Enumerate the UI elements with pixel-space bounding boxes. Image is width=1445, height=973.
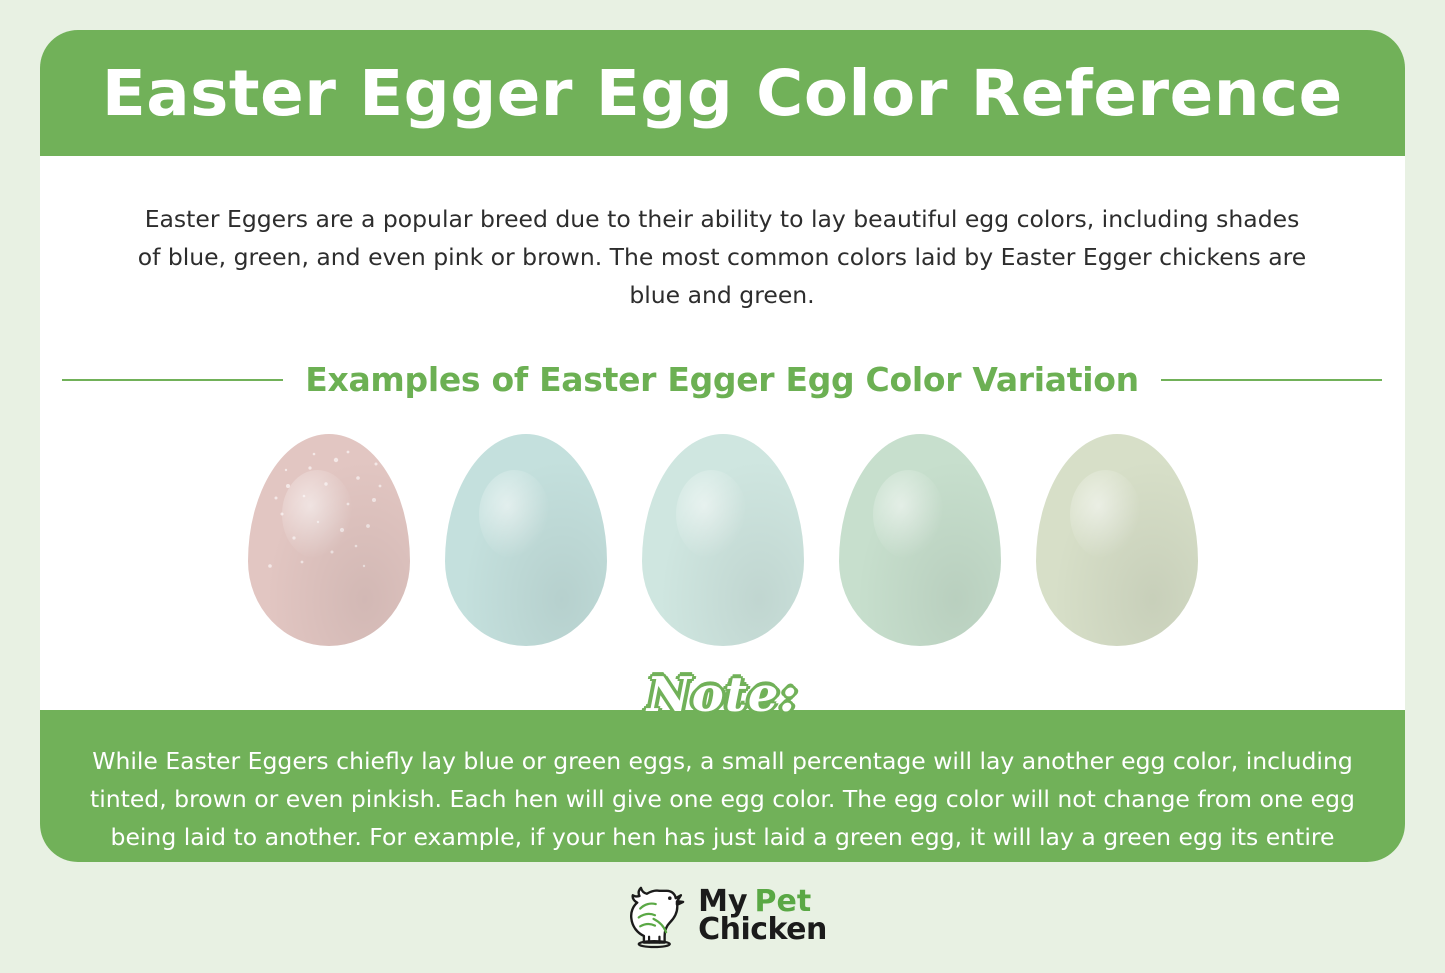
egg-speckles (248, 434, 410, 646)
section-heading-label: Examples of Easter Egger Egg Color Varia… (305, 360, 1139, 399)
note-body: While Easter Eggers chiefly lay blue or … (90, 742, 1355, 862)
egg-shadow (1036, 434, 1198, 646)
egg-swatch-2 (445, 434, 607, 646)
page-title: Easter Egger Egg Color Reference (102, 62, 1343, 125)
egg-shadow (248, 434, 410, 646)
egg-swatch-4 (839, 434, 1001, 646)
section-heading: Examples of Easter Egger Egg Color Varia… (62, 360, 1382, 399)
egg-highlight (873, 470, 944, 559)
logo-wordmark: My Pet Chicken (698, 888, 827, 943)
logo-word-chicken: Chicken (698, 916, 827, 944)
egg-shadow (839, 434, 1001, 646)
egg-shadow (642, 434, 804, 646)
egg-swatch-3 (642, 434, 804, 646)
egg-highlight (1070, 470, 1141, 559)
divider-left (62, 379, 283, 381)
egg-swatch-5 (1036, 434, 1198, 646)
intro-paragraph: Easter Eggers are a popular breed due to… (132, 200, 1312, 314)
brand-logo: My Pet Chicken (0, 876, 1445, 955)
infographic-page: Easter Egger Egg Color Reference Easter … (0, 0, 1445, 973)
chicken-icon (618, 876, 692, 955)
egg-highlight (479, 470, 550, 559)
egg-swatch-1 (248, 434, 410, 646)
note-title: Note: (40, 667, 1405, 723)
egg-shadow (445, 434, 607, 646)
egg-highlight (282, 470, 353, 559)
egg-color-swatch-row (40, 420, 1405, 660)
divider-right (1161, 379, 1382, 381)
header-band: Easter Egger Egg Color Reference (40, 30, 1405, 156)
egg-highlight (676, 470, 747, 559)
infographic-card: Easter Egger Egg Color Reference Easter … (40, 30, 1405, 862)
